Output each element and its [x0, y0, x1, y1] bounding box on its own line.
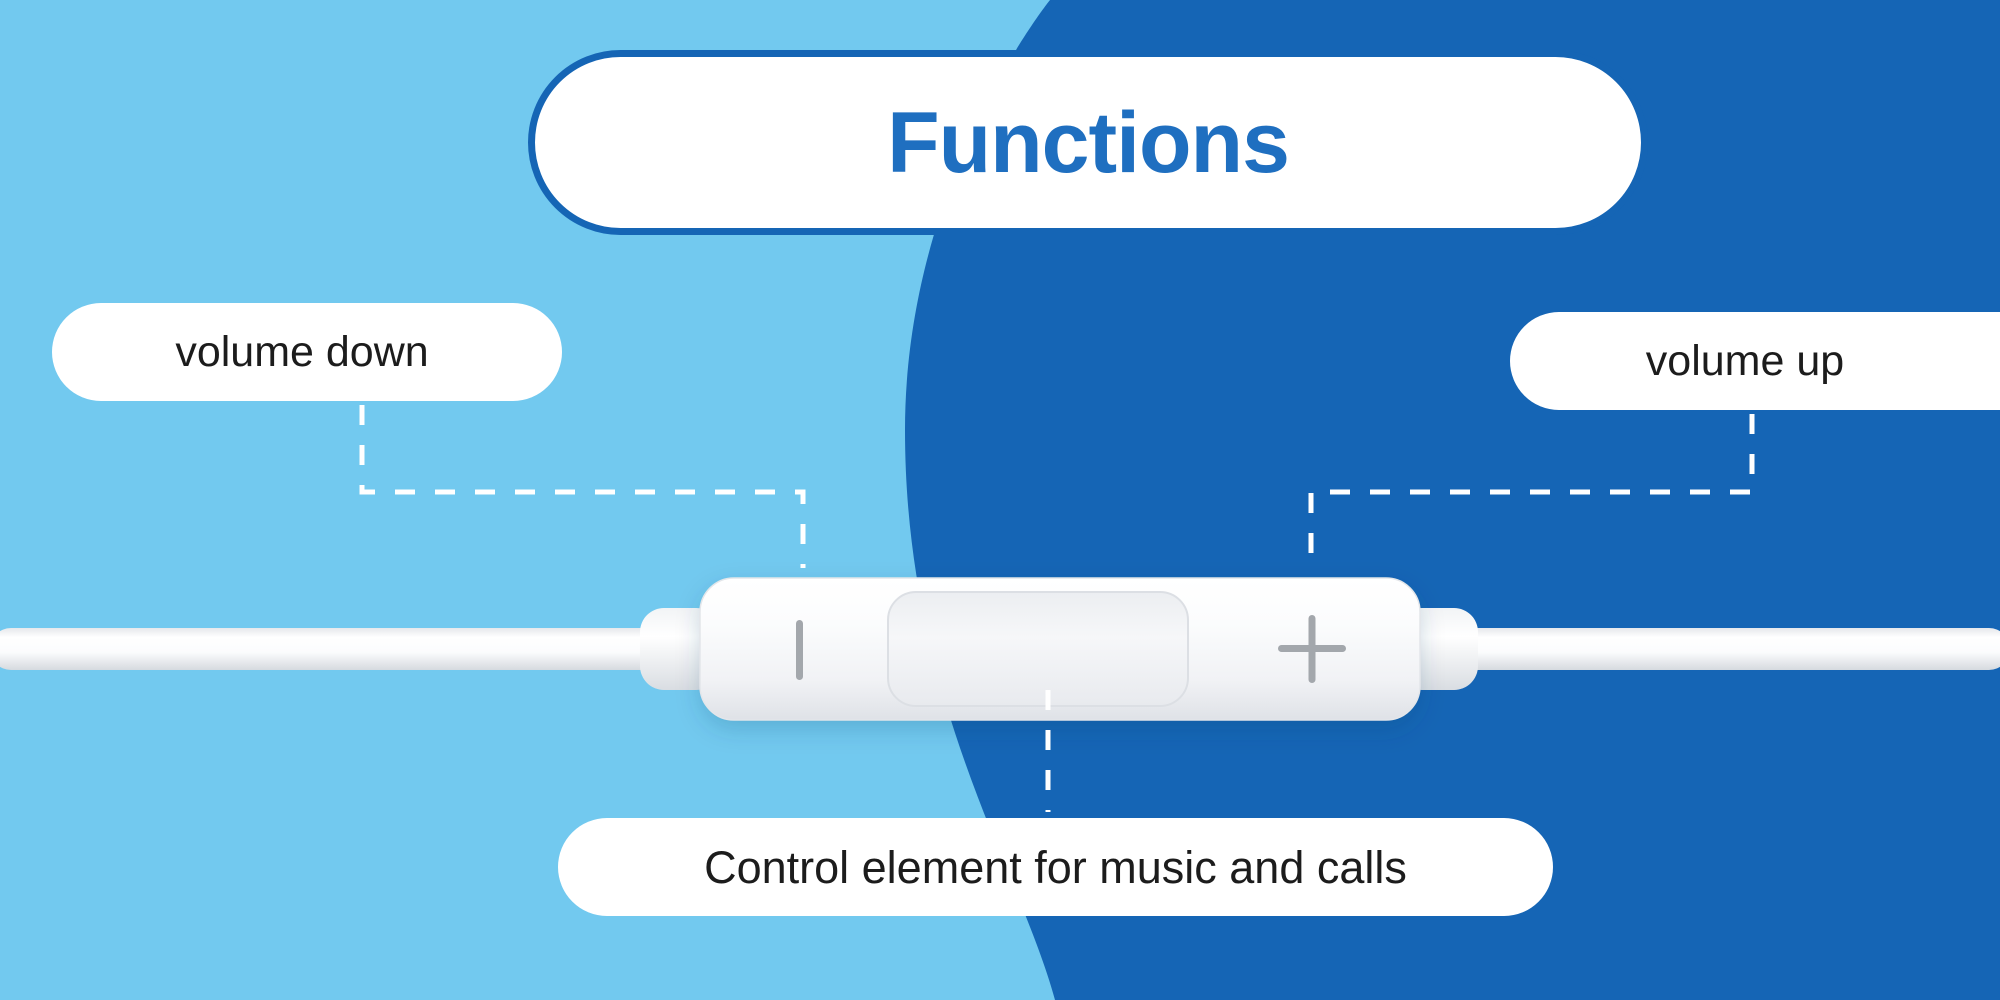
page-title: Functions	[887, 100, 1289, 186]
earphone-cable-left	[0, 628, 730, 670]
callout-label-volume-up[interactable]: volume up	[1510, 312, 2000, 410]
earphone-cable-right	[1390, 628, 2000, 670]
plus-button[interactable]	[1255, 600, 1365, 700]
callout-label-volume-down-text: volume down	[175, 331, 428, 374]
minus-icon	[796, 620, 803, 680]
infographic-canvas: Functions volume down volume up Control …	[0, 0, 2000, 1000]
page-title-banner: Functions	[528, 50, 1648, 235]
callout-label-volume-down[interactable]: volume down	[52, 303, 562, 401]
center-button[interactable]	[888, 592, 1188, 706]
minus-button[interactable]	[795, 600, 885, 700]
callout-label-control-element-text: Control element for music and calls	[704, 845, 1407, 890]
callout-label-control-element[interactable]: Control element for music and calls	[558, 818, 1553, 916]
callout-label-volume-up-text: volume up	[1646, 340, 1844, 383]
